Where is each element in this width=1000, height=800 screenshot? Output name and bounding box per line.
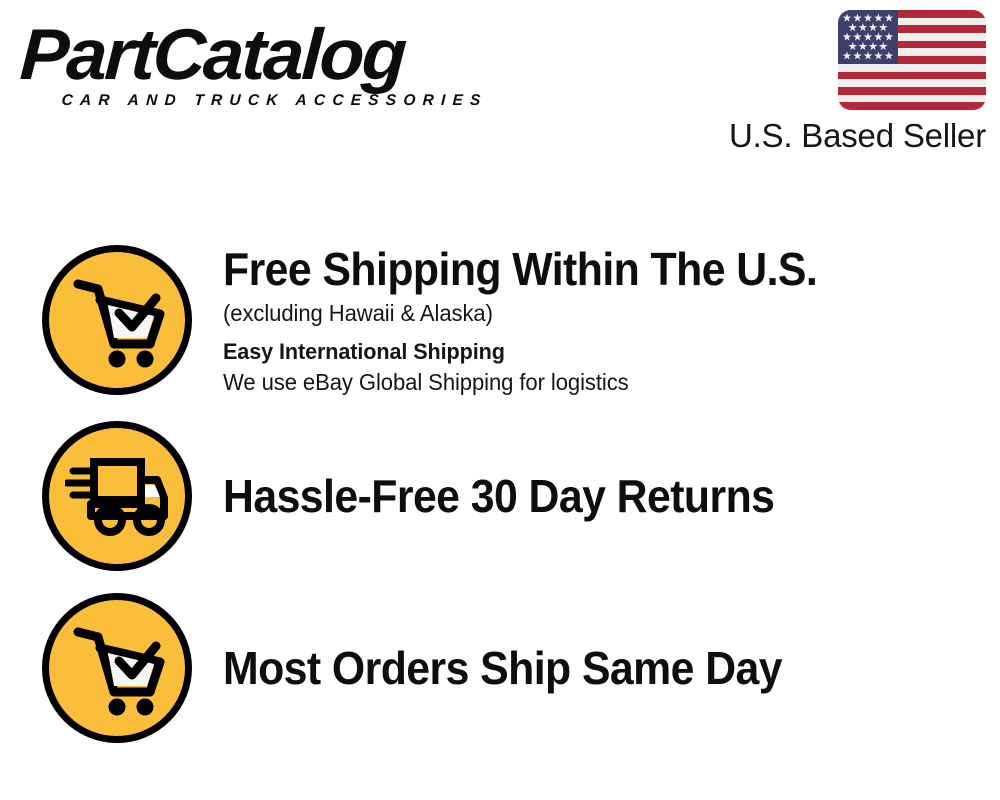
feature-item-free-shipping: Free Shipping Within The U.S. (excluding… [0, 230, 1000, 410]
flag-star-row [838, 32, 898, 41]
flag-star [853, 13, 862, 22]
brand-logo: PartCatalog CAR AND TRUCK ACCESSORIES [22, 22, 492, 114]
feature-title: Most Orders Ship Same Day [223, 642, 927, 694]
flag-stripe [838, 64, 986, 72]
flag-star [884, 13, 893, 22]
feature-item-returns: Hassle-Free 30 Day Returns [0, 410, 1000, 582]
flag-star [848, 42, 857, 51]
flag-star [842, 51, 851, 60]
flag-star [848, 23, 857, 32]
flag-star [842, 13, 851, 22]
flag-star [863, 51, 872, 60]
shopping-cart-check-icon [42, 245, 192, 395]
flag-stripe [838, 102, 986, 110]
flag-star [874, 32, 883, 41]
flag-stripe [838, 72, 986, 80]
flag-canton [838, 10, 898, 64]
feature-secondary-title: Easy International Shipping [223, 337, 950, 367]
flag-star [853, 32, 862, 41]
flag-star [869, 42, 878, 51]
flag-star [879, 42, 888, 51]
flag-star [842, 32, 851, 41]
feature-text-block: Most Orders Ship Same Day [223, 642, 1000, 694]
feature-title: Free Shipping Within The U.S. [223, 243, 927, 295]
feature-secondary-subtitle: We use eBay Global Shipping for logistic… [223, 367, 950, 398]
feature-item-same-day-ship: Most Orders Ship Same Day [0, 582, 1000, 754]
seller-badge-label: U.S. Based Seller [729, 118, 986, 154]
seller-badge: U.S. Based Seller [716, 10, 986, 154]
delivery-truck-icon [42, 421, 192, 571]
flag-star [884, 51, 893, 60]
flag-star [858, 42, 867, 51]
flag-star [874, 51, 883, 60]
flag-stripe [838, 79, 986, 87]
us-flag-icon [838, 10, 986, 110]
flag-star [863, 32, 872, 41]
flag-stripe [838, 95, 986, 103]
flag-star-row [844, 23, 892, 32]
brand-tagline: CAR AND TRUCK ACCESSORIES [61, 92, 488, 110]
flag-star-row [838, 51, 898, 60]
flag-star [884, 32, 893, 41]
flag-star [853, 51, 862, 60]
flag-star [874, 13, 883, 22]
flag-star-row [838, 13, 898, 22]
shopping-cart-check-icon [42, 593, 192, 743]
feature-text-block: Free Shipping Within The U.S. (excluding… [223, 243, 1000, 398]
promo-banner: PartCatalog CAR AND TRUCK ACCESSORIES [0, 0, 1000, 800]
banner-header: PartCatalog CAR AND TRUCK ACCESSORIES [0, 0, 1000, 175]
feature-title: Hassle-Free 30 Day Returns [223, 470, 927, 522]
flag-star [879, 23, 888, 32]
feature-subtitle: (excluding Hawaii & Alaska) [223, 297, 950, 329]
brand-wordmark: PartCatalog [18, 22, 501, 88]
flag-star [858, 23, 867, 32]
flag-star [869, 23, 878, 32]
feature-text-block: Hassle-Free 30 Day Returns [223, 470, 1000, 522]
flag-star-row [844, 42, 892, 51]
flag-star [863, 13, 872, 22]
flag-stripe [838, 87, 986, 95]
